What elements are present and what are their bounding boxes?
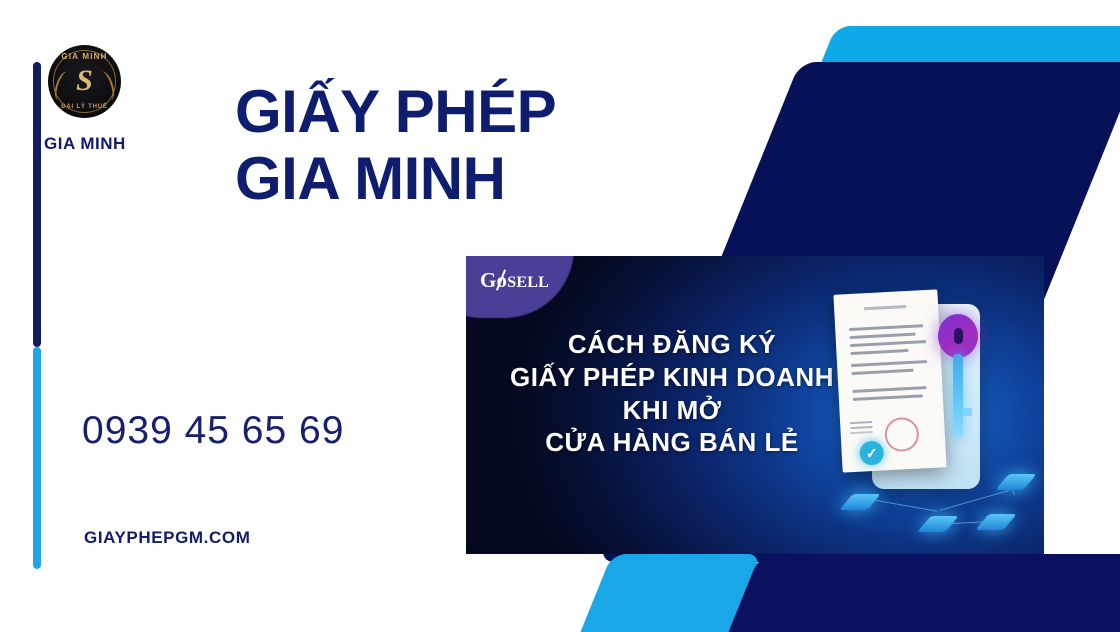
brand-block: GIA MINH S ĐẠI LÝ THUẾ GIA MINH: [40, 45, 230, 154]
network-wire: [939, 490, 1008, 511]
decorative-shape-bottom-navy: [716, 554, 1120, 632]
license-illustration: ✓: [816, 278, 1044, 554]
gosell-logo: GoSELL: [480, 268, 549, 293]
logo-bottom-text: ĐẠI LÝ THUẾ: [48, 104, 121, 110]
network-node-icon: [995, 474, 1036, 490]
gosell-logo-g: G: [480, 268, 497, 292]
banner-headline-line2: GIẤY PHÉP KINH DOANH: [472, 361, 872, 394]
verified-check-icon: ✓: [859, 440, 884, 465]
poster-canvas: GIA MINH S ĐẠI LÝ THUẾ GIA MINH GIẤY PHÉ…: [0, 0, 1120, 632]
website-url: GIAYPHEPGM.COM: [84, 528, 250, 548]
network-node-icon: [839, 494, 880, 510]
accent-bar-cyan: [33, 347, 41, 569]
banner-headline-line4: CỬA HÀNG BÁN LẺ: [472, 426, 872, 459]
page-title-line2: GIA MINH: [235, 145, 695, 212]
banner-headline-line3: KHI MỞ: [472, 394, 872, 427]
document-icon: ✓: [833, 289, 946, 472]
logo-monogram: S: [48, 66, 121, 96]
key-shaft-icon: [953, 354, 963, 438]
gosell-banner-image: GoSELL CÁCH ĐĂNG KÝ GIẤY PHÉP KINH DOANH…: [466, 256, 1044, 554]
page-title-line1: GIẤY PHÉP: [235, 78, 556, 145]
banner-headline-line1: CÁCH ĐĂNG KÝ: [472, 328, 872, 361]
gia-minh-logo-icon: GIA MINH S ĐẠI LÝ THUẾ: [48, 45, 121, 118]
gosell-logo-sell: SELL: [507, 274, 549, 291]
document-stamp-icon: [884, 417, 920, 453]
banner-headline: CÁCH ĐĂNG KÝ GIẤY PHÉP KINH DOANH KHI MỞ…: [472, 328, 872, 459]
network-node-icon: [975, 514, 1016, 530]
key-tooth-icon: [963, 408, 972, 416]
page-title: GIẤY PHÉP GIA MINH: [235, 78, 695, 212]
document-title-line: [864, 305, 906, 310]
phone-number: 0939 45 65 69: [82, 409, 344, 453]
brand-name: GIA MINH: [44, 134, 230, 154]
key-hole-icon: [954, 328, 963, 344]
document-signature-lines: [850, 421, 872, 424]
logo-top-text: GIA MINH: [48, 52, 121, 61]
